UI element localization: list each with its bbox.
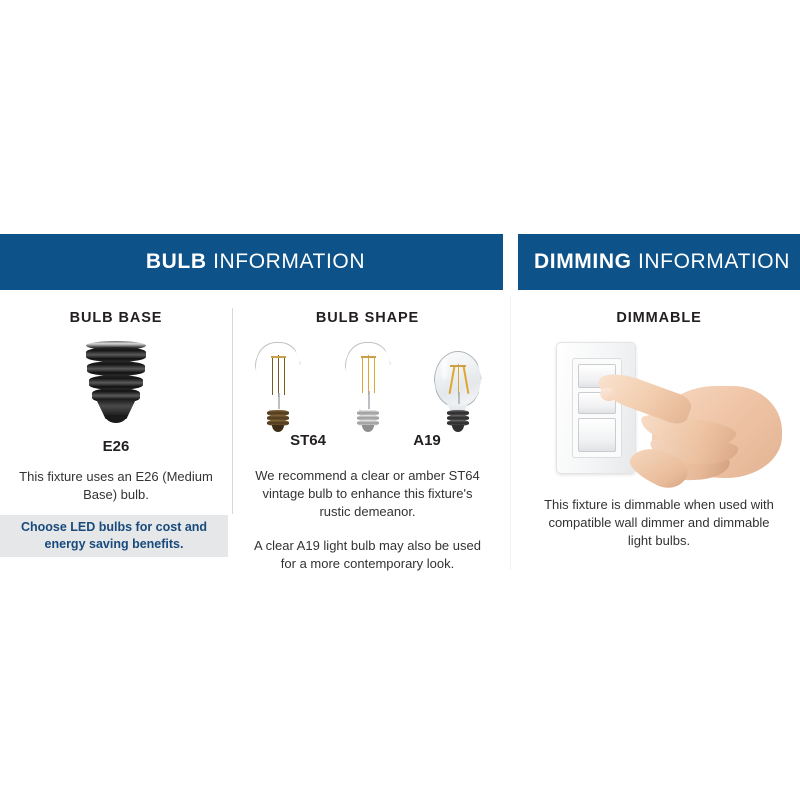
- dimming-header-bold-word: DIMMING: [534, 250, 632, 273]
- bulb-base-title: BULB BASE: [0, 310, 232, 326]
- bulb-shape-column: BULB SHAPE: [232, 310, 503, 573]
- bulb-shape-description-secondary: A clear A19 light bulb may also be used …: [246, 537, 490, 573]
- led-savings-callout: Choose LED bulbs for cost and energy sav…: [0, 515, 228, 557]
- bulb-shape-item-a19: [416, 334, 500, 432]
- bulb-header-light-word: INFORMATION: [213, 250, 365, 273]
- hand-illustration: [594, 366, 784, 484]
- dimming-header-light-word: INFORMATION: [638, 250, 790, 273]
- bulb-base-label: E26: [0, 438, 232, 455]
- a19-clear-bulb-icon: [434, 334, 482, 432]
- wall-dimmer-switch-with-hand-icon: [534, 332, 784, 482]
- bulb-shape-illustrations: [232, 332, 503, 432]
- led-savings-callout-text: Choose LED bulbs for cost and energy sav…: [11, 519, 217, 553]
- bulb-shape-title: BULB SHAPE: [232, 310, 503, 326]
- bulb-shape-description-primary: We recommend a clear or amber ST64 vinta…: [246, 467, 490, 521]
- bulb-shape-item-st64: [326, 334, 410, 432]
- bulb-label-a19: A19: [387, 432, 467, 449]
- st64-amber-bulb-icon: [255, 334, 301, 432]
- st64-clear-bulb-icon: [345, 334, 391, 432]
- bulb-information-panel: BULB INFORMATION BULB BASE: [0, 234, 503, 573]
- dimming-panel-body: DIMMABLE This fixture is dimmable whe: [518, 290, 800, 550]
- e26-screw-base-icon: [0, 334, 232, 432]
- bulb-label-st64: ST64: [268, 432, 348, 449]
- info-graphic-page: BULB INFORMATION BULB BASE: [0, 0, 800, 800]
- bulb-header-bold-word: BULB: [146, 250, 207, 273]
- panel-separator: [510, 296, 511, 570]
- dimmable-title: DIMMABLE: [518, 310, 800, 326]
- bulb-shape-item-amber: [236, 334, 320, 432]
- bulb-shape-labels: ST64 A19: [232, 432, 503, 454]
- bulb-information-title: BULB INFORMATION: [146, 250, 365, 274]
- bulb-information-header: BULB INFORMATION: [0, 234, 503, 290]
- bulb-base-description: This fixture uses an E26 (Medium Base) b…: [18, 468, 214, 504]
- dimming-information-panel: DIMMING INFORMATION DIMMABLE: [518, 234, 800, 550]
- dimming-description: This fixture is dimmable when used with …: [535, 496, 783, 550]
- dimming-information-header: DIMMING INFORMATION: [518, 234, 800, 290]
- dimming-information-title: DIMMING INFORMATION: [534, 250, 790, 274]
